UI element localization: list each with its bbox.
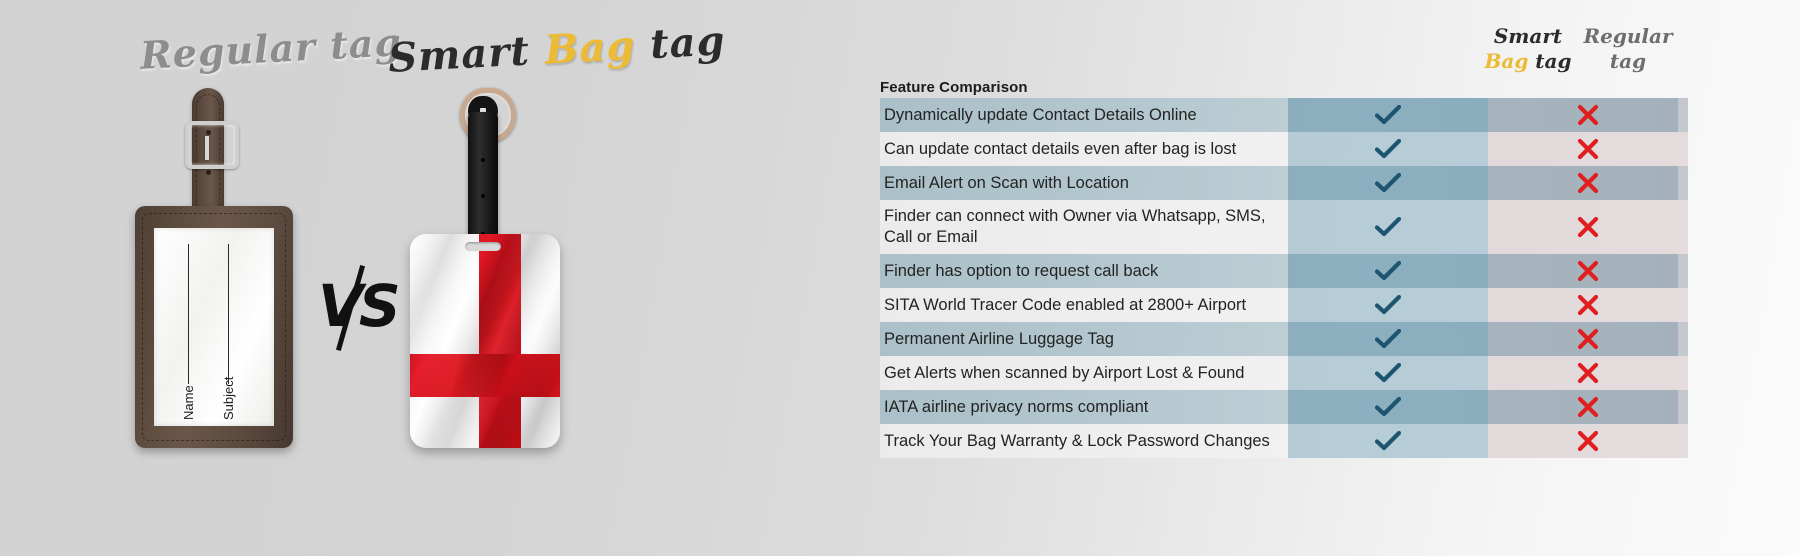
- regular-tag-image: Name Subject: [135, 88, 293, 448]
- regular-tag-body: Name Subject: [135, 206, 293, 448]
- feature-label: Permanent Airline Luggage Tag: [880, 323, 1288, 356]
- check-icon: [1288, 132, 1488, 166]
- feature-label: Finder has option to request call back: [880, 255, 1288, 288]
- field-label-subject: Subject: [221, 377, 236, 420]
- col-smart-highlight: Bag: [1484, 49, 1528, 73]
- table-row: IATA airline privacy norms compliant: [880, 390, 1678, 424]
- table-row: Finder can connect with Owner via Whatsa…: [880, 200, 1678, 254]
- feature-label: Finder can connect with Owner via Whatsa…: [880, 200, 1288, 254]
- smart-bag-tag-image: [410, 86, 560, 448]
- feature-label: Track Your Bag Warranty & Lock Password …: [880, 425, 1288, 458]
- table-row: SITA World Tracer Code enabled at 2800+ …: [880, 288, 1678, 322]
- smart-tag-heading: Smart Bag tag: [387, 17, 727, 82]
- strap-hole: [206, 170, 211, 175]
- cross-icon: [1488, 166, 1688, 200]
- col-smart-post: tag: [1528, 49, 1571, 73]
- feature-label: Get Alerts when scanned by Airport Lost …: [880, 357, 1288, 390]
- table-row: Permanent Airline Luggage Tag: [880, 322, 1678, 356]
- regular-tag-heading: Regular tag: [139, 19, 403, 78]
- write-line: [228, 244, 229, 384]
- versus-badge: VS: [318, 268, 388, 344]
- table-row: Get Alerts when scanned by Airport Lost …: [880, 356, 1678, 390]
- field-label-name: Name: [181, 385, 196, 420]
- table-row: Track Your Bag Warranty & Lock Password …: [880, 424, 1678, 458]
- strap-hole: [481, 194, 485, 198]
- smart-heading-pre: Smart: [387, 27, 546, 82]
- tag-strap-slot: [465, 242, 501, 251]
- feature-label: SITA World Tracer Code enabled at 2800+ …: [880, 289, 1288, 322]
- feature-label: Email Alert on Scan with Location: [880, 167, 1288, 200]
- cross-icon: [1488, 98, 1688, 132]
- comparison-graphic: Regular tag Name Subject VS Smart Bag ta…: [0, 0, 1800, 556]
- column-header-smart-bag-tag: Smart Bag tag: [1478, 24, 1578, 74]
- cross-icon: [1488, 200, 1688, 254]
- check-icon: [1288, 98, 1488, 132]
- check-icon: [1288, 356, 1488, 390]
- buckle-icon: [185, 121, 239, 169]
- cross-icon: [1488, 132, 1688, 166]
- cross-icon: [1488, 322, 1688, 356]
- check-icon: [1288, 288, 1488, 322]
- feature-label: Dynamically update Contact Details Onlin…: [880, 99, 1288, 132]
- write-line: [188, 244, 189, 384]
- cross-icon: [1488, 356, 1688, 390]
- regular-tag-window: Name Subject: [154, 228, 274, 426]
- check-icon: [1288, 322, 1488, 356]
- col-regular-label: Regular tag: [1584, 24, 1673, 73]
- comparison-title: Feature Comparison: [880, 79, 1028, 96]
- table-row: Email Alert on Scan with Location: [880, 166, 1678, 200]
- smart-tag-body-england-flag: [410, 234, 560, 448]
- cross-icon: [1488, 390, 1688, 424]
- smart-heading-highlight: Bag: [543, 22, 636, 74]
- feature-label: Can update contact details even after ba…: [880, 133, 1288, 166]
- check-icon: [1288, 166, 1488, 200]
- cross-icon: [1488, 424, 1688, 458]
- check-icon: [1288, 200, 1488, 254]
- feature-label: IATA airline privacy norms compliant: [880, 391, 1288, 424]
- cross-icon: [1488, 288, 1688, 322]
- table-row: Finder has option to request call back: [880, 254, 1678, 288]
- column-header-regular-tag: Regular tag: [1578, 24, 1678, 74]
- strap-hole: [481, 158, 485, 162]
- check-icon: [1288, 390, 1488, 424]
- table-row: Can update contact details even after ba…: [880, 132, 1678, 166]
- comparison-rows: Dynamically update Contact Details Onlin…: [880, 98, 1678, 458]
- col-smart-pre: Smart: [1494, 24, 1562, 48]
- check-icon: [1288, 424, 1488, 458]
- cross-icon: [1488, 254, 1688, 288]
- smart-tag-strap: [468, 112, 498, 248]
- check-icon: [1288, 254, 1488, 288]
- comparison-column-headers: Smart Bag tag Regular tag: [1478, 24, 1678, 98]
- table-row: Dynamically update Contact Details Onlin…: [880, 98, 1678, 132]
- flag-silk-shading: [410, 234, 560, 448]
- smart-heading-post: tag: [634, 17, 727, 69]
- buckle-pin: [205, 136, 209, 160]
